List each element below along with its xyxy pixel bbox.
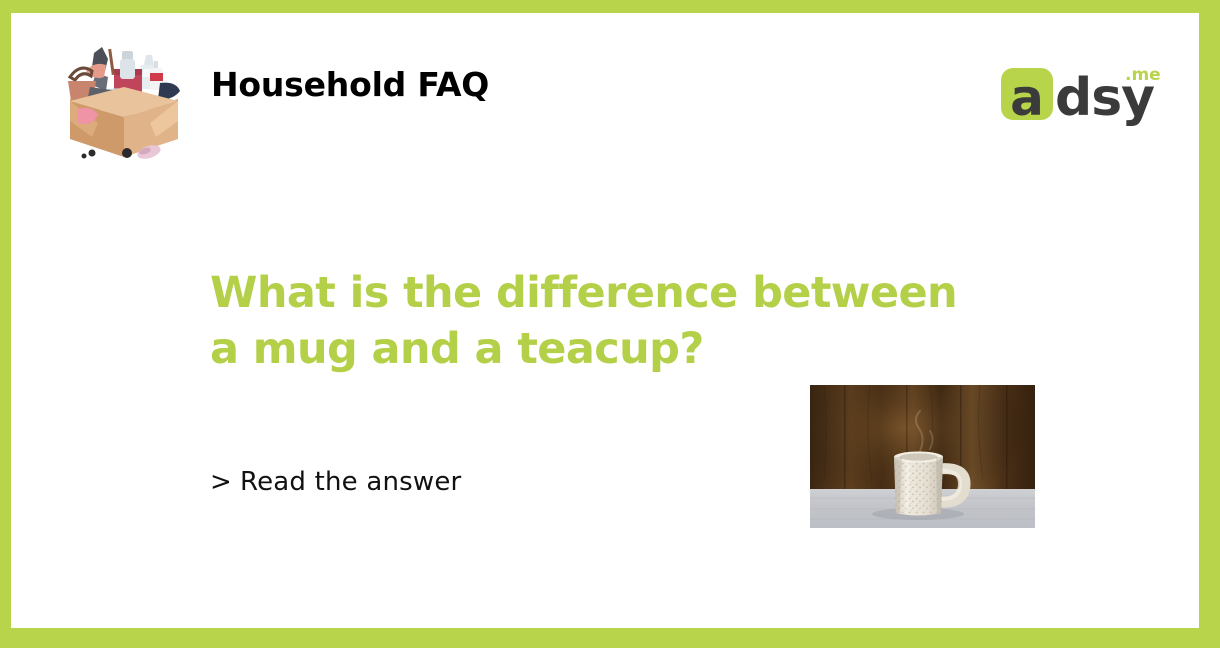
read-the-answer-link[interactable]: >Read the answer [210, 467, 461, 497]
svg-text:a: a [1010, 69, 1044, 127]
adsy-logo[interactable]: a dsy .me [999, 58, 1167, 134]
headline-line-1: What is the difference between [210, 265, 1110, 321]
read-the-answer-label: Read the answer [240, 467, 461, 497]
mug-photo [810, 385, 1035, 528]
household-box-illustration [50, 25, 200, 165]
page-title: Household FAQ [211, 65, 489, 104]
page-frame: Household FAQ a dsy .me What is the diff… [0, 0, 1220, 648]
headline-line-2: a mug and a teacup? [210, 321, 1110, 377]
chevron-right-icon: > [210, 467, 232, 497]
page-header: Household FAQ a dsy .me [11, 13, 1199, 161]
svg-text:.me: .me [1125, 65, 1161, 85]
page-content: Household FAQ a dsy .me What is the diff… [11, 13, 1199, 628]
page-headline: What is the difference between a mug and… [210, 265, 1110, 377]
